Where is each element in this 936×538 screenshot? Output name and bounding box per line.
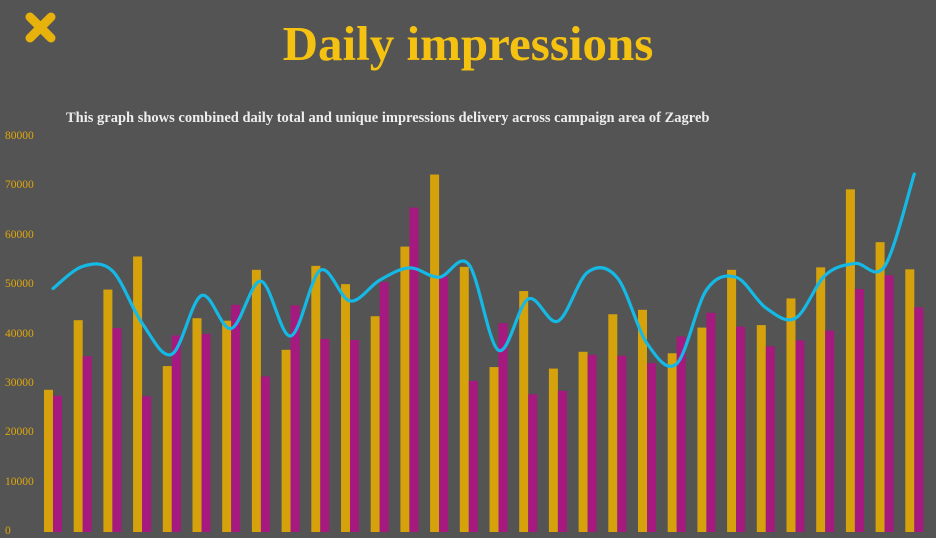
bar-total bbox=[608, 314, 617, 532]
bar-unique bbox=[855, 289, 864, 532]
bar-total bbox=[400, 247, 409, 532]
bar-total bbox=[103, 290, 112, 532]
bar-unique bbox=[677, 336, 686, 532]
y-axis-tick-label: 10000 bbox=[5, 477, 34, 489]
bar-total bbox=[460, 267, 469, 532]
bar-total bbox=[787, 298, 796, 532]
bar-total bbox=[579, 352, 588, 532]
bar-unique bbox=[617, 356, 626, 532]
bar-unique bbox=[647, 363, 656, 532]
bar-total bbox=[816, 267, 825, 532]
bar-unique bbox=[350, 340, 359, 532]
bar-unique bbox=[914, 307, 923, 532]
bar-unique bbox=[706, 313, 715, 532]
bar-unique bbox=[469, 381, 478, 532]
bar-total bbox=[490, 367, 499, 532]
bar-total bbox=[74, 320, 83, 532]
y-axis-tick-label: 60000 bbox=[5, 230, 34, 242]
bar-unique bbox=[53, 396, 62, 532]
bar-unique bbox=[528, 394, 537, 532]
bar-unique bbox=[499, 323, 508, 532]
bar-total bbox=[846, 189, 855, 532]
bar-total bbox=[876, 242, 885, 532]
bar-unique bbox=[142, 396, 151, 532]
bar-total bbox=[519, 291, 528, 532]
y-axis-tick-label: 50000 bbox=[5, 279, 34, 291]
bar-unique bbox=[558, 391, 567, 532]
bar-unique bbox=[320, 339, 329, 532]
bar-unique bbox=[261, 376, 270, 532]
bar-unique bbox=[83, 356, 92, 532]
bar-total bbox=[222, 321, 231, 532]
bar-total bbox=[133, 256, 142, 532]
bar-unique bbox=[409, 208, 418, 532]
bar-unique bbox=[825, 331, 834, 532]
bar-total bbox=[549, 369, 558, 532]
bar-unique bbox=[380, 282, 389, 532]
chart-plot-svg bbox=[0, 0, 936, 535]
bar-total bbox=[252, 270, 261, 532]
bar-total bbox=[905, 269, 914, 532]
y-axis-tick-label: 40000 bbox=[5, 329, 34, 341]
bar-total bbox=[193, 318, 202, 532]
y-axis-tick-label: 70000 bbox=[5, 180, 34, 192]
bar-unique bbox=[112, 328, 121, 532]
bar-total bbox=[282, 350, 291, 532]
y-axis-tick-label: 20000 bbox=[5, 427, 34, 439]
trend-line-path bbox=[53, 174, 914, 366]
bar-unique bbox=[202, 334, 211, 532]
bar-total bbox=[757, 325, 766, 532]
bar-unique bbox=[736, 327, 745, 532]
bar-unique bbox=[885, 275, 894, 532]
bar-unique bbox=[796, 340, 805, 532]
bar-total bbox=[668, 353, 677, 532]
bar-unique bbox=[231, 305, 240, 532]
bar-total bbox=[44, 390, 53, 532]
impressions-chart: 0100002000030000400005000060000700008000… bbox=[0, 0, 936, 535]
bar-total bbox=[371, 316, 380, 532]
bar-unique bbox=[766, 346, 775, 532]
bar-total bbox=[430, 175, 439, 532]
bar-unique bbox=[588, 355, 597, 532]
y-axis-tick-label: 0 bbox=[5, 526, 11, 538]
bar-total bbox=[163, 366, 172, 532]
bar-unique bbox=[291, 305, 300, 532]
y-axis-tick-label: 30000 bbox=[5, 378, 34, 390]
y-axis-tick-label: 80000 bbox=[5, 131, 34, 143]
bar-total bbox=[697, 328, 706, 532]
bar-total bbox=[341, 284, 350, 532]
bar-total bbox=[727, 270, 736, 532]
bar-unique bbox=[439, 276, 448, 532]
bar-total bbox=[311, 266, 320, 532]
slide-canvas: Daily impressions This graph shows combi… bbox=[0, 0, 936, 535]
bar-unique bbox=[172, 335, 181, 532]
